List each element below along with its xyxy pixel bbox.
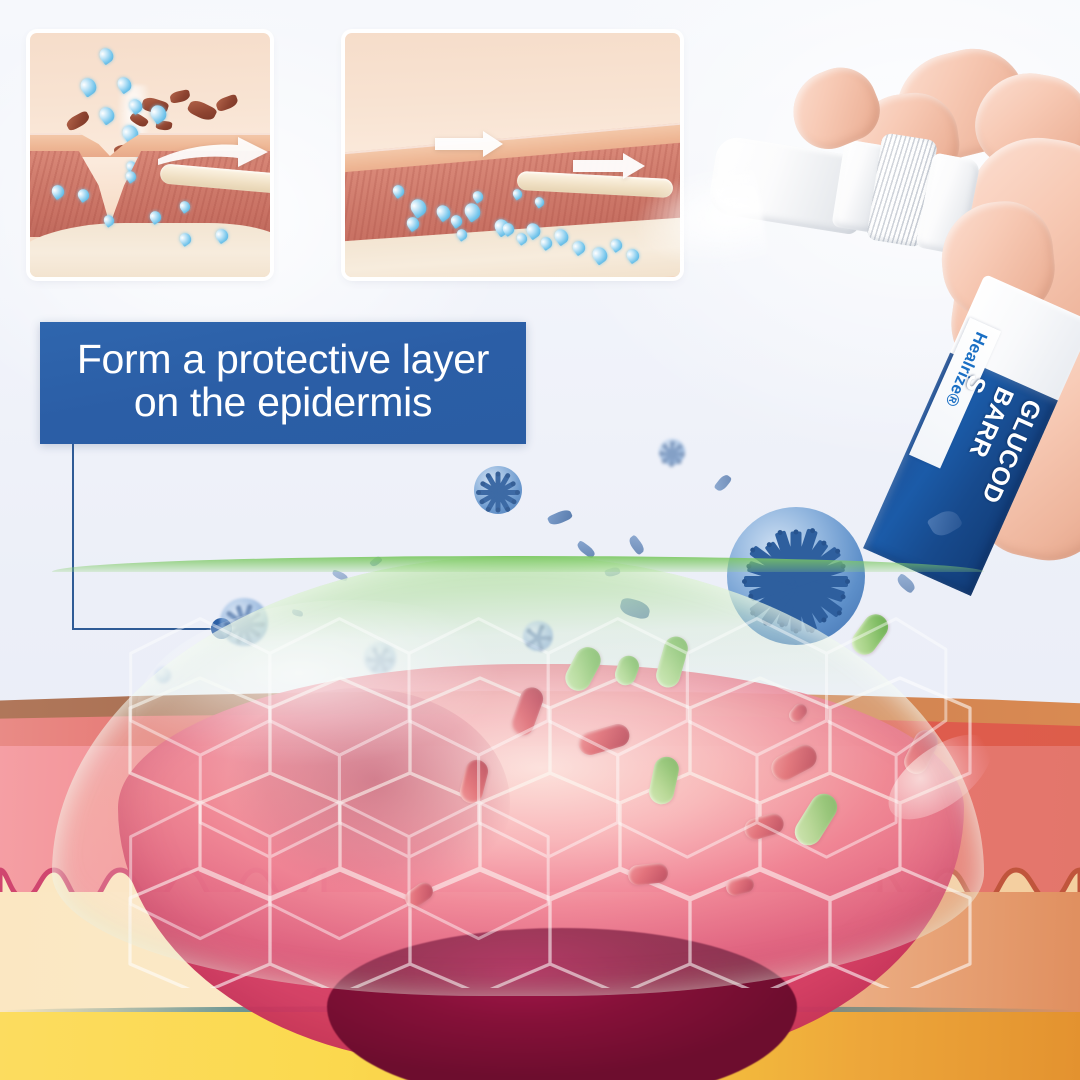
virus-particle-on-dome [512, 610, 564, 662]
callout-headline-line2: on the epidermis [134, 381, 432, 424]
direction-arrow-icon [435, 131, 503, 157]
virus-particle-small [648, 428, 696, 476]
inset-panel-penetration [30, 33, 270, 277]
infographic-canvas: Form a protective layer on the epidermis [0, 0, 1080, 1080]
callout-headline-line1: Form a protective layer [77, 338, 489, 381]
direction-arrow-icon [573, 153, 645, 179]
dome-highlight [136, 600, 565, 829]
direction-arrow-icon [158, 137, 268, 171]
callout-banner: Form a protective layer on the epidermis [40, 322, 526, 444]
virus-particle-medium [455, 447, 541, 533]
skin-cross-section [0, 628, 1080, 1080]
panel-1-art [30, 33, 270, 277]
hypodermis-layer [30, 223, 270, 277]
